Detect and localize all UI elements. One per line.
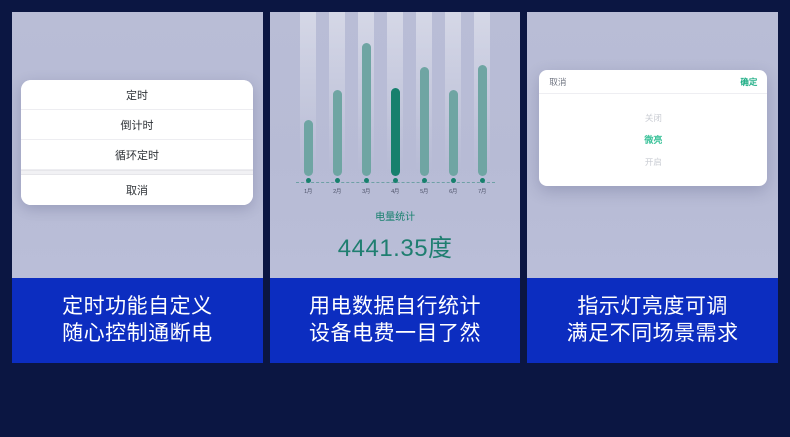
picker-option-off[interactable]: 关闭 <box>645 109 662 128</box>
picker-header: 取消 确定 <box>539 70 767 94</box>
chart-axis-label: 1月 <box>297 187 319 195</box>
promo-banner: 定时 倒计时 循环定时 取消 定时功能自定义 随心控制通断电 1月2月3月4月5… <box>0 0 790 437</box>
panel-timer-caption: 定时功能自定义 随心控制通断电 <box>12 278 263 363</box>
chart-bar <box>391 88 400 176</box>
caption-line-2: 随心控制通断电 <box>62 321 213 348</box>
chart-bar <box>333 90 342 176</box>
power-usage-chart: 1月2月3月4月5月6月7月 电量统计 4441.35度 <box>270 12 521 278</box>
panel-timer-visual: 定时 倒计时 循环定时 取消 <box>12 12 263 278</box>
chart-total-value: 4441.35度 <box>270 228 521 263</box>
chart-axis-dot <box>306 178 311 183</box>
caption-line-1: 用电数据自行统计 <box>309 294 481 321</box>
chart-axis-label: 4月 <box>384 187 406 195</box>
chart-axis-dot <box>393 178 398 183</box>
chart-bar <box>362 43 371 176</box>
chart-axis-label: 7月 <box>471 187 493 195</box>
chart-axis-dot <box>335 178 340 183</box>
panel-indicator-visual: 取消 确定 关闭 微亮 开启 <box>527 12 778 278</box>
caption-line-2: 满足不同场景需求 <box>567 321 739 348</box>
chart-axis-dot <box>451 178 456 183</box>
caption-line-1: 指示灯亮度可调 <box>577 294 728 321</box>
caption-line-1: 定时功能自定义 <box>62 294 213 321</box>
chart-axis-label: 2月 <box>326 187 348 195</box>
action-sheet-item-countdown[interactable]: 倒计时 <box>21 110 253 140</box>
panel-indicator-brightness: 取消 确定 关闭 微亮 开启 指示灯亮度可调 满足不同场景需求 <box>527 12 778 363</box>
chart-title: 电量统计 <box>270 208 521 223</box>
chart-axis-label: 6月 <box>442 187 464 195</box>
picker-confirm-button[interactable]: 确定 <box>740 76 757 88</box>
picker-option-on[interactable]: 开启 <box>645 153 662 172</box>
chart-bar <box>420 67 429 176</box>
panel-power-stats: 1月2月3月4月5月6月7月 电量统计 4441.35度 用电数据自行统计 设备… <box>270 12 521 363</box>
panel-row: 定时 倒计时 循环定时 取消 定时功能自定义 随心控制通断电 1月2月3月4月5… <box>12 12 778 363</box>
panel-power-stats-visual: 1月2月3月4月5月6月7月 电量统计 4441.35度 <box>270 12 521 278</box>
action-sheet-item-cyclic-timer[interactable]: 循环定时 <box>21 140 253 170</box>
panel-power-stats-caption: 用电数据自行统计 设备电费一目了然 <box>270 278 521 363</box>
action-sheet-item-timer[interactable]: 定时 <box>21 80 253 110</box>
chart-bar <box>478 65 487 176</box>
action-sheet-cancel-button[interactable]: 取消 <box>21 175 253 205</box>
caption-line-2: 设备电费一目了然 <box>309 321 481 348</box>
picker-option-list[interactable]: 关闭 微亮 开启 <box>539 94 767 186</box>
chart-axis-label: 3月 <box>355 187 377 195</box>
panel-timer: 定时 倒计时 循环定时 取消 定时功能自定义 随心控制通断电 <box>12 12 263 363</box>
chart-axis-dot <box>422 178 427 183</box>
picker-cancel-button[interactable]: 取消 <box>549 76 566 88</box>
picker-option-dim[interactable]: 微亮 <box>644 131 662 150</box>
panel-indicator-caption: 指示灯亮度可调 满足不同场景需求 <box>527 278 778 363</box>
chart-bar <box>449 90 458 176</box>
chart-bar <box>304 120 313 176</box>
chart-axis-label: 5月 <box>413 187 435 195</box>
chart-axis-dot <box>364 178 369 183</box>
brightness-picker-dialog: 取消 确定 关闭 微亮 开启 <box>539 70 767 186</box>
timer-action-sheet: 定时 倒计时 循环定时 取消 <box>21 80 253 205</box>
chart-plot-area <box>294 26 497 176</box>
chart-axis-dot <box>480 178 485 183</box>
